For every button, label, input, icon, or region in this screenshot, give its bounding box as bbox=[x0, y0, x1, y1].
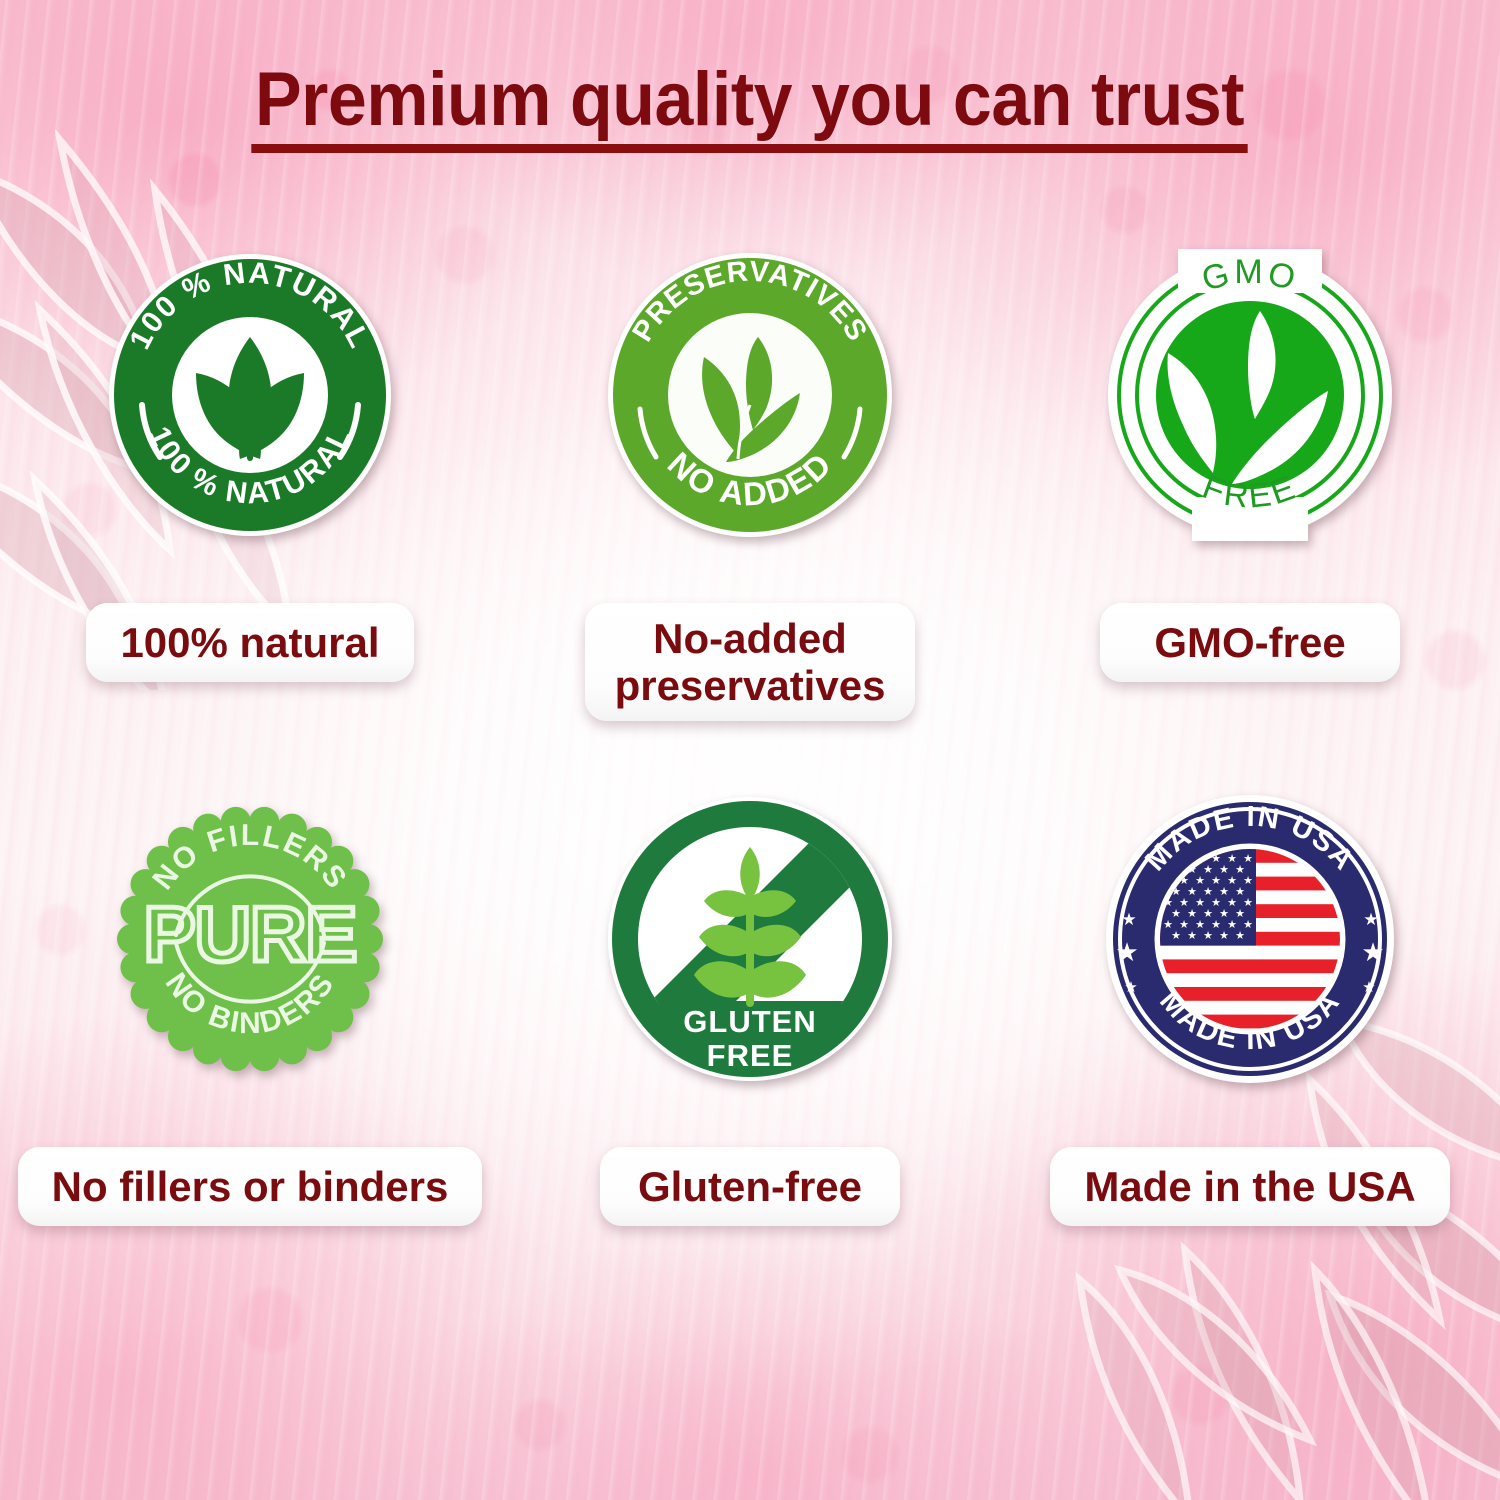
gmo-free-badge: GMO FREE bbox=[1100, 245, 1400, 545]
badge-label-gmo-free: GMO-free bbox=[1100, 603, 1400, 682]
svg-text:★: ★ bbox=[1187, 929, 1197, 942]
natural-100-percent-badge: 100 % NATURAL 100 % NATURAL bbox=[100, 245, 400, 545]
svg-text:FREE: FREE bbox=[707, 1038, 794, 1073]
heading-container: Premium quality you can trust bbox=[0, 62, 1500, 153]
badge-label-text: GMO-free bbox=[1154, 619, 1345, 666]
promo-panel: Premium quality you can trust bbox=[0, 0, 1500, 1500]
badge-label-gluten-free: Gluten-free bbox=[600, 1147, 900, 1226]
pure-no-fillers-no-binders-badge: NO FILLERS NO BINDERS PURE bbox=[100, 789, 400, 1089]
svg-text:★: ★ bbox=[1121, 910, 1136, 930]
svg-text:★: ★ bbox=[1171, 929, 1181, 942]
svg-text:★: ★ bbox=[1362, 978, 1375, 996]
badge-label-text-line2: preservatives bbox=[615, 662, 886, 709]
badge-label-text: No fillers or binders bbox=[52, 1163, 449, 1210]
badge-label-text-line1: No-added bbox=[615, 615, 886, 662]
svg-text:★: ★ bbox=[1219, 929, 1229, 942]
made-in-usa-badge: ★★★★★★ ★★★★★ ★★★★★★ ★★★★★ ★★★★★★ ★★★★★ ★… bbox=[1100, 789, 1400, 1089]
svg-text:★: ★ bbox=[1235, 929, 1245, 942]
badge-cell-preservatives: PRESERVATIVES NO ADDED No-added bbox=[500, 245, 1000, 721]
badge-cell-made-in-usa: ★★★★★★ ★★★★★ ★★★★★★ ★★★★★ ★★★★★★ ★★★★★ ★… bbox=[1000, 789, 1500, 1226]
badge-label-text: 100% natural bbox=[120, 619, 379, 666]
badge-cell-gmo-free: GMO FREE GMO-free bbox=[1000, 245, 1500, 721]
badge-label-text: Gluten-free bbox=[638, 1163, 862, 1210]
trust-badge-grid: 100 % NATURAL 100 % NATURAL 100% natura bbox=[0, 245, 1500, 1226]
badge-label-natural: 100% natural bbox=[86, 603, 413, 682]
svg-text:★: ★ bbox=[1124, 978, 1137, 996]
badge-cell-natural: 100 % NATURAL 100 % NATURAL 100% natura bbox=[0, 245, 500, 721]
svg-text:★: ★ bbox=[1361, 938, 1384, 968]
svg-text:★: ★ bbox=[1115, 938, 1138, 968]
gluten-free-badge: GLUTEN FREE bbox=[600, 789, 900, 1089]
badge-cell-pure: NO FILLERS NO BINDERS PURE No fillers or… bbox=[0, 789, 500, 1226]
svg-text:GLUTEN: GLUTEN bbox=[683, 1004, 816, 1039]
badge-label-made-in-usa: Made in the USA bbox=[1050, 1147, 1449, 1226]
badge-label-preservatives: No-added preservatives bbox=[585, 603, 916, 721]
badge-label-text: Made in the USA bbox=[1084, 1163, 1415, 1210]
badge-label-pure: No fillers or binders bbox=[18, 1147, 483, 1226]
svg-text:★: ★ bbox=[1203, 929, 1213, 942]
no-added-preservatives-badge: PRESERVATIVES NO ADDED bbox=[600, 245, 900, 545]
badge-cell-gluten-free: GLUTEN FREE Gluten-free bbox=[500, 789, 1000, 1226]
page-title: Premium quality you can trust bbox=[252, 62, 1248, 153]
svg-text:★: ★ bbox=[1363, 910, 1378, 930]
svg-text:PURE: PURE bbox=[144, 890, 357, 978]
